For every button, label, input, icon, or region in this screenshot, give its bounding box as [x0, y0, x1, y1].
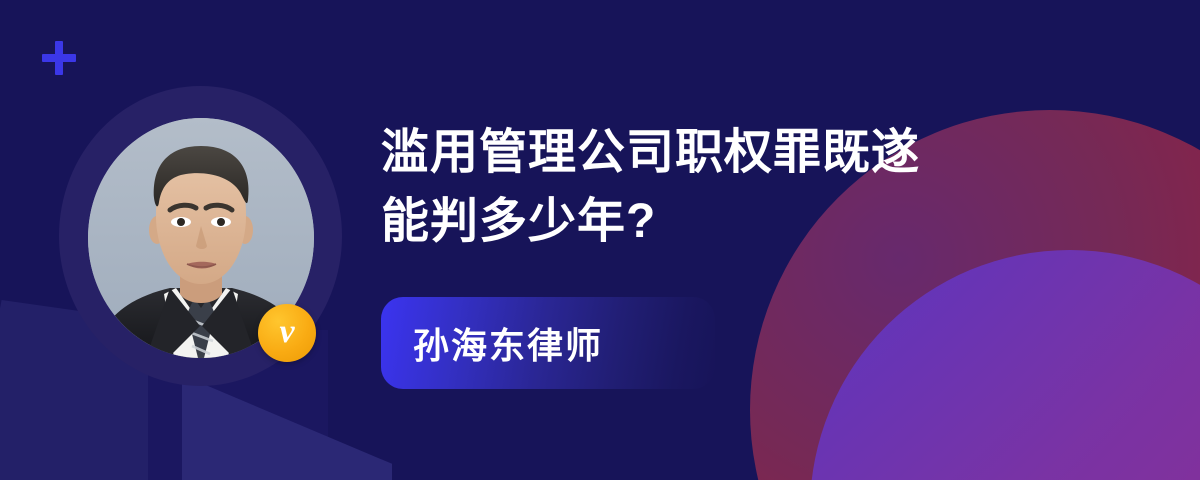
page-title: 滥用管理公司职权罪既遂 能判多少年? [381, 118, 1111, 256]
decor-polygon-left-lower [182, 375, 392, 480]
lawyer-question-banner: v 滥用管理公司职权罪既遂 能判多少年? 孙海东律师 [0, 0, 1200, 480]
lawyer-name-pill[interactable]: 孙海东律师 [381, 297, 715, 389]
lawyer-name-label: 孙海东律师 [381, 317, 603, 369]
verified-badge-glyph: v [279, 315, 294, 349]
headline-line-2: 能判多少年? [381, 187, 1111, 256]
avatar: v [59, 86, 342, 386]
verified-badge-icon: v [258, 304, 316, 362]
plus-icon [41, 40, 77, 76]
headline-line-1: 滥用管理公司职权罪既遂 [381, 118, 1111, 187]
headline-block: 滥用管理公司职权罪既遂 能判多少年? [381, 118, 1111, 256]
decor-violet-arc [810, 250, 1200, 480]
